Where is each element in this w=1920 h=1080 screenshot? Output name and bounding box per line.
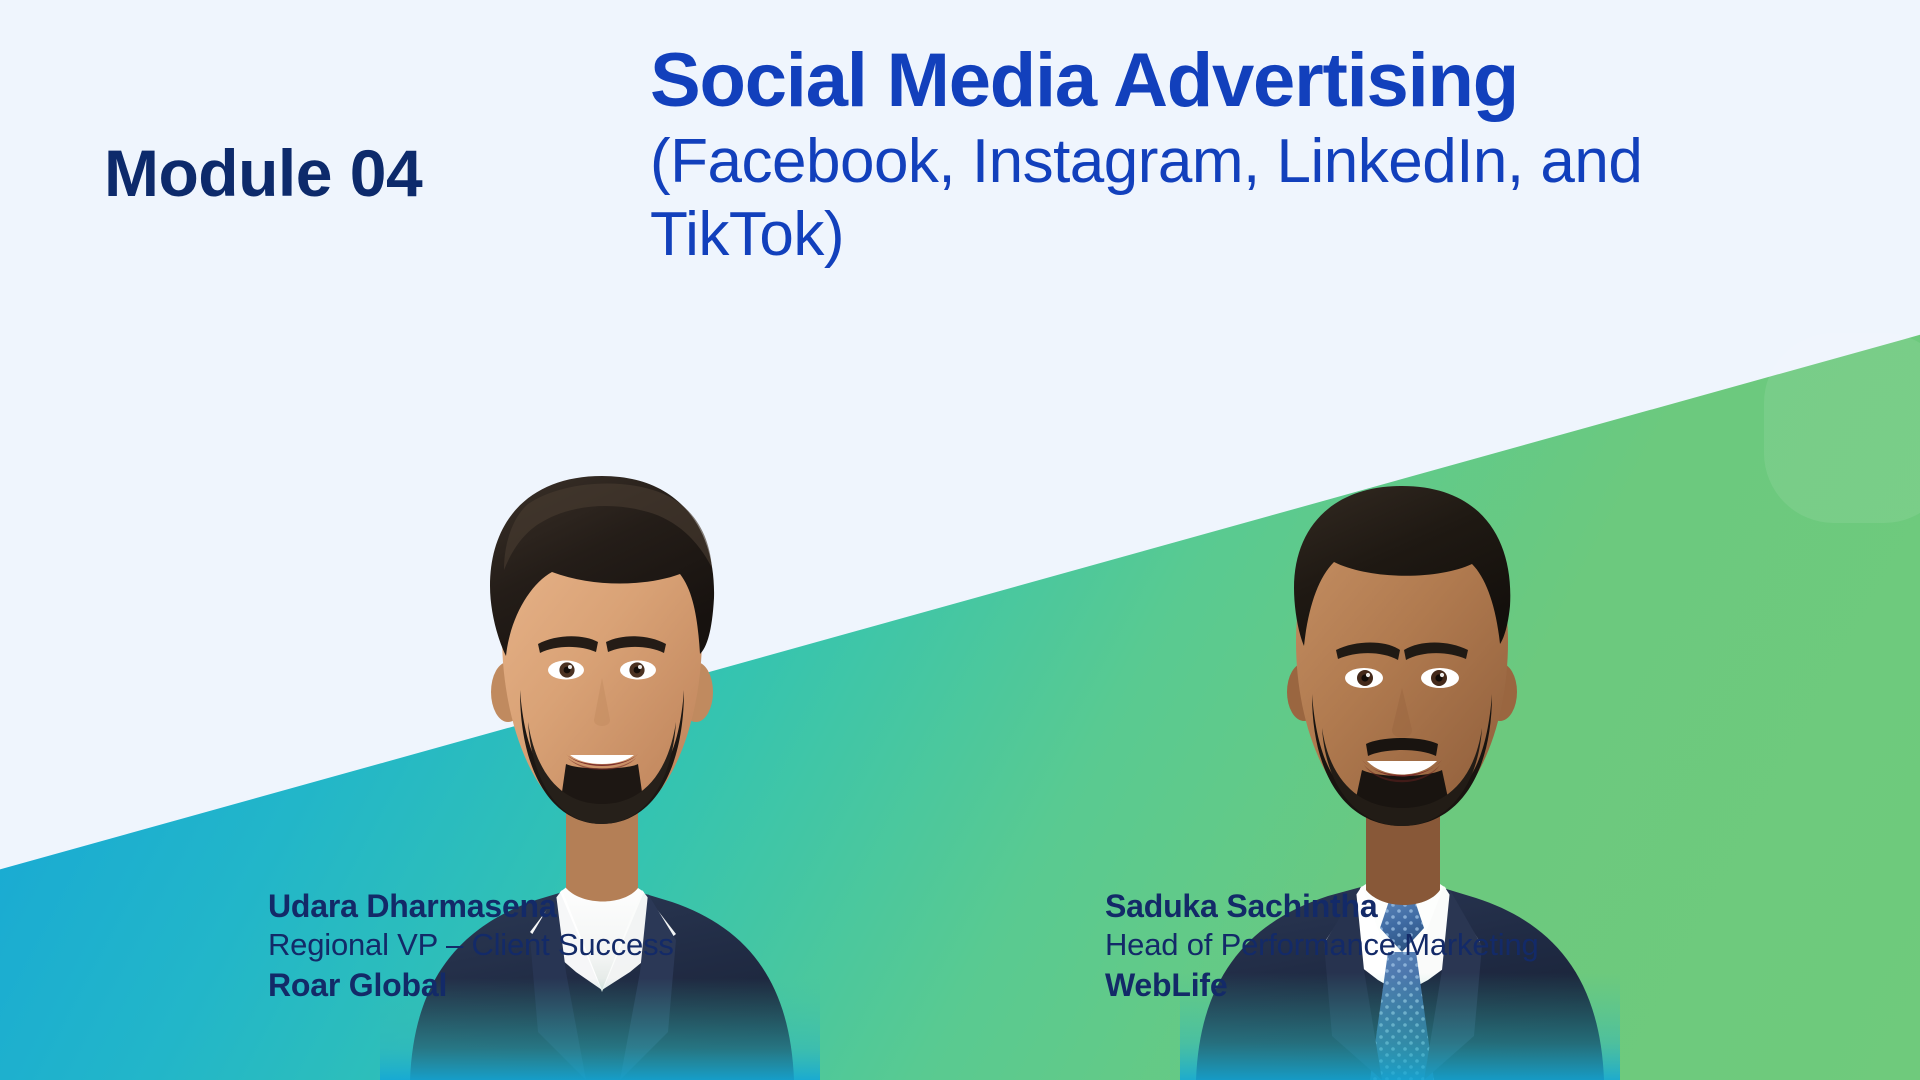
presentation-slide: Module 04 Social Media Advertising (Face… [0,0,1920,1080]
page-title: Social Media Advertising [650,38,1890,123]
page-subtitle: (Facebook, Instagram, LinkedIn, and TikT… [650,125,1830,271]
speaker-organization: Roar Global [268,969,674,1001]
speaker-role: Regional VP – Client Success [268,929,674,960]
title-column: Social Media Advertising (Facebook, Inst… [650,38,1890,271]
speaker-organization: WebLife [1105,969,1539,1001]
speaker-caption-left: Udara Dharmasena Regional VP – Client Su… [268,890,674,1001]
speaker-name: Saduka Sachintha [1105,890,1539,922]
speaker-role: Head of Performance Marketing [1105,929,1539,960]
module-label: Module 04 [104,140,422,206]
speaker-name: Udara Dharmasena [268,890,674,922]
speaker-caption-right: Saduka Sachintha Head of Performance Mar… [1105,890,1539,1001]
